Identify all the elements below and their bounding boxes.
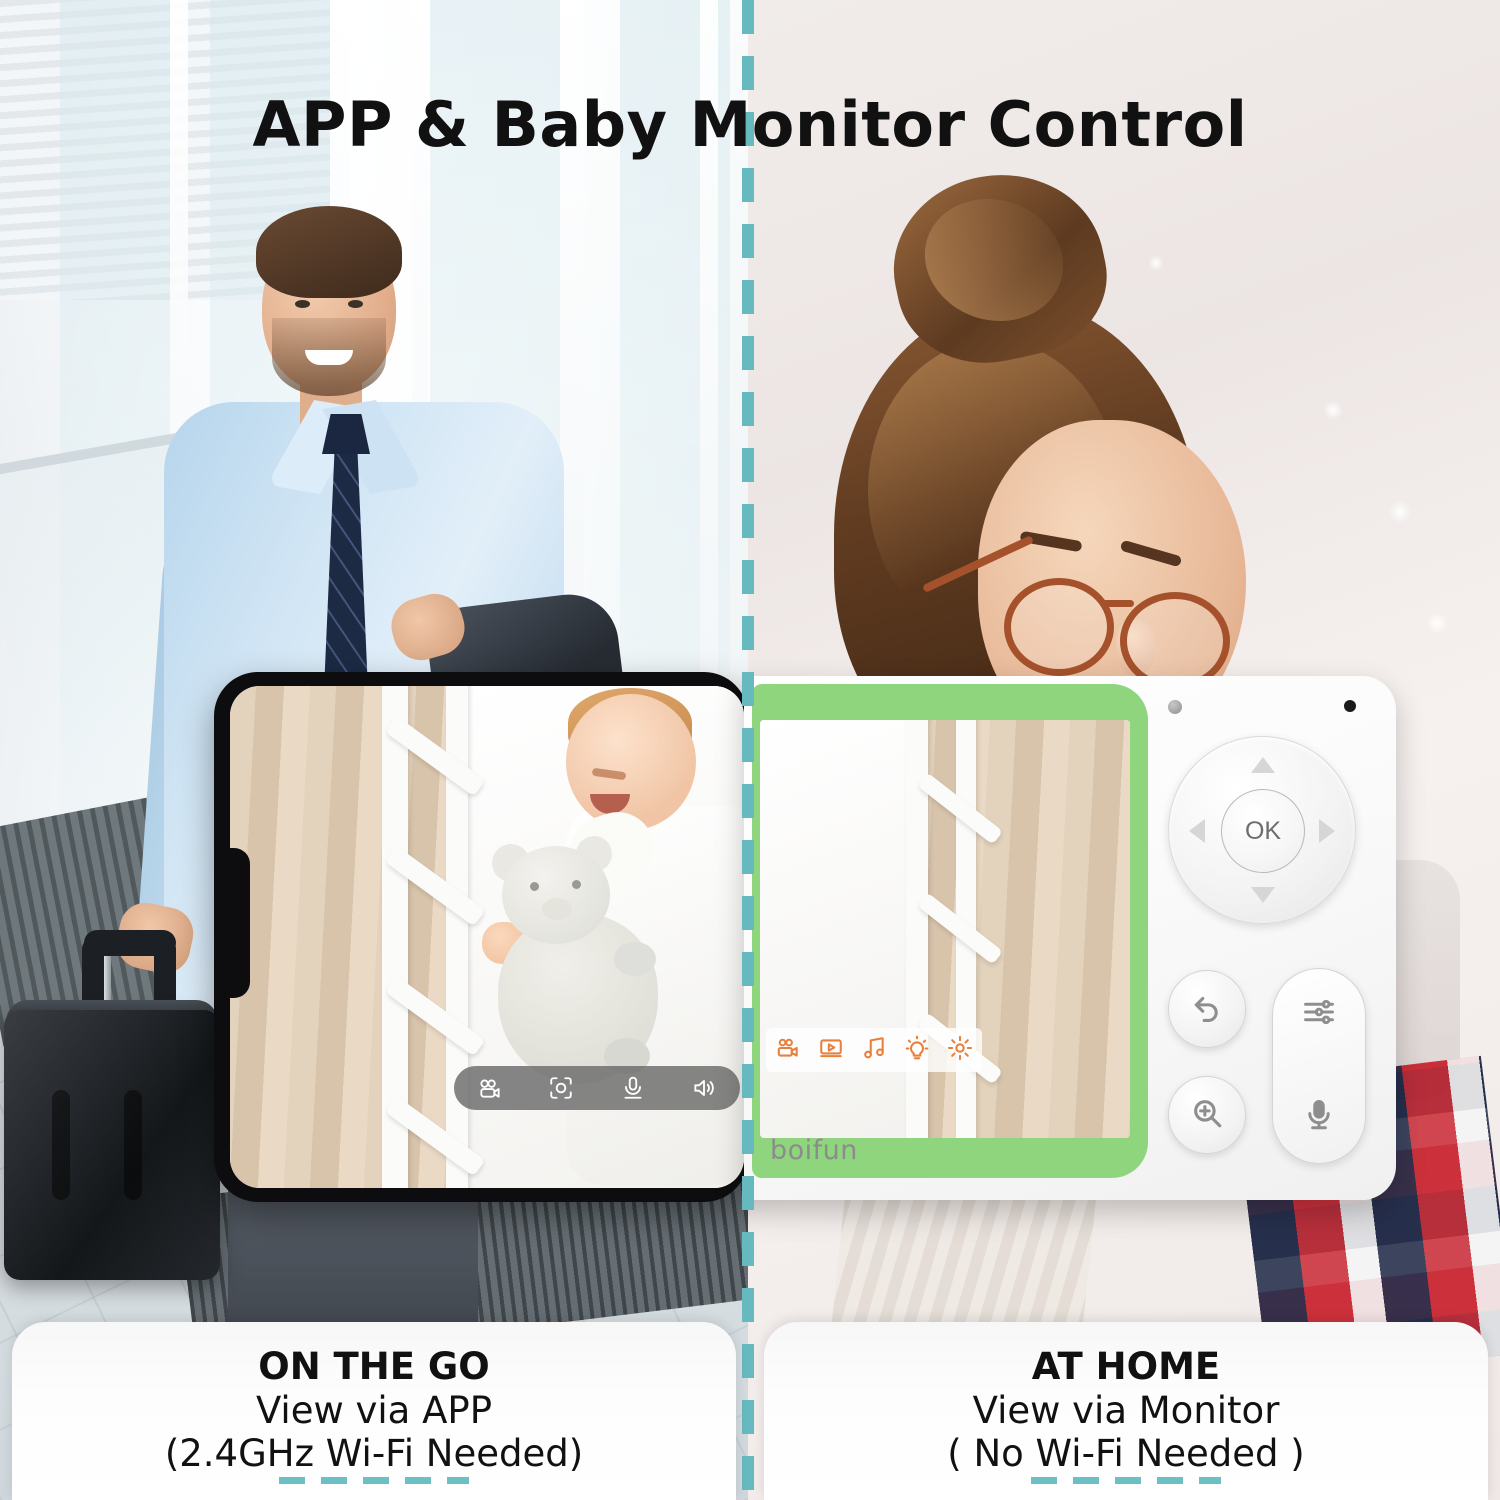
- app-control-toolbar[interactable]: [454, 1066, 740, 1110]
- phone-screen[interactable]: [230, 686, 744, 1188]
- smartphone-device: [214, 672, 748, 1202]
- ok-button[interactable]: OK: [1221, 789, 1305, 873]
- bear-eye-right: [572, 880, 581, 889]
- bokeh-light: [1426, 612, 1448, 634]
- caption-card-at-home: AT HOME View via Monitor ( No Wi-Fi Need…: [764, 1322, 1488, 1500]
- monitor-green-bezel: boifun: [752, 684, 1148, 1178]
- phone-notch: [220, 848, 250, 998]
- caption-line2: View via Monitor: [973, 1390, 1280, 1431]
- back-arrow-icon: [1190, 990, 1224, 1029]
- baby-head: [566, 694, 696, 830]
- video-record-icon[interactable]: [775, 1035, 801, 1066]
- caption-headline: AT HOME: [1032, 1347, 1220, 1387]
- back-button[interactable]: [1168, 970, 1246, 1048]
- dpad-left-arrow-icon[interactable]: [1189, 819, 1205, 843]
- eyeglass-bridge: [1102, 600, 1134, 607]
- crib-mattress: [760, 720, 910, 1138]
- caption-headline: ON THE GO: [258, 1347, 490, 1387]
- live-camera-feed: [760, 720, 1130, 1138]
- monitor-menu-bar[interactable]: [766, 1028, 982, 1072]
- dpad-control[interactable]: OK: [1168, 736, 1356, 924]
- page-title: APP & Baby Monitor Control: [0, 88, 1500, 161]
- suitcase-groove: [124, 1090, 142, 1200]
- settings-gear-icon[interactable]: [947, 1035, 973, 1066]
- playback-icon[interactable]: [818, 1035, 844, 1066]
- bear-eye-left: [530, 882, 539, 891]
- eye-right: [348, 300, 363, 308]
- snapshot-icon[interactable]: [546, 1073, 576, 1103]
- caption-line3: ( No Wi-Fi Needed ): [947, 1432, 1304, 1475]
- video-record-icon[interactable]: [475, 1073, 505, 1103]
- suitcase-body: [4, 1010, 220, 1280]
- caption-card-on-the-go: ON THE GO View via APP (2.4GHz Wi-Fi Nee…: [12, 1322, 736, 1500]
- lullaby-music-icon[interactable]: [861, 1035, 887, 1066]
- brand-logo: boifun: [770, 1135, 858, 1166]
- smile: [305, 350, 353, 365]
- speaker-icon[interactable]: [689, 1073, 719, 1103]
- bokeh-light: [1148, 255, 1164, 271]
- bokeh-light: [1323, 400, 1343, 420]
- caption-dashed-underline: [1031, 1477, 1221, 1484]
- microphone-icon[interactable]: [618, 1073, 648, 1103]
- dpad-up-arrow-icon[interactable]: [1251, 757, 1275, 773]
- caption-dashed-underline: [279, 1477, 469, 1484]
- status-led: [1168, 700, 1182, 714]
- suitcase-groove: [52, 1090, 70, 1200]
- product-feature-image: boifun OK: [0, 0, 1500, 1500]
- zoom-in-button[interactable]: [1168, 1076, 1246, 1154]
- eye-left: [295, 300, 310, 308]
- live-camera-feed: [230, 686, 744, 1188]
- settings-sliders-icon: [1302, 995, 1336, 1034]
- wood-floor: [910, 720, 1130, 1138]
- microphone-icon: [1302, 1098, 1336, 1137]
- bear-snout: [542, 898, 572, 920]
- bokeh-light: [1388, 500, 1412, 524]
- baby-monitor-device: boifun OK: [744, 676, 1396, 1200]
- bear-arm: [614, 942, 656, 976]
- magnifier-plus-icon: [1190, 1096, 1224, 1135]
- hair: [256, 206, 402, 298]
- caption-line2: View via APP: [256, 1390, 492, 1431]
- eyeglass-lens-left: [1004, 578, 1114, 676]
- caption-line3: (2.4GHz Wi-Fi Needed): [165, 1432, 583, 1475]
- light-sensor: [1344, 700, 1356, 712]
- dpad-right-arrow-icon[interactable]: [1319, 819, 1335, 843]
- caption-line3-wrap: (2.4GHz Wi-Fi Needed): [165, 1433, 583, 1474]
- vertical-dashed-divider: [742, 0, 754, 1500]
- caption-line3-wrap: ( No Wi-Fi Needed ): [947, 1433, 1304, 1474]
- menu-talk-button[interactable]: [1272, 968, 1366, 1164]
- dpad-down-arrow-icon[interactable]: [1251, 887, 1275, 903]
- monitor-screen[interactable]: [760, 720, 1130, 1138]
- night-light-icon[interactable]: [904, 1035, 930, 1066]
- bear-head: [502, 846, 610, 944]
